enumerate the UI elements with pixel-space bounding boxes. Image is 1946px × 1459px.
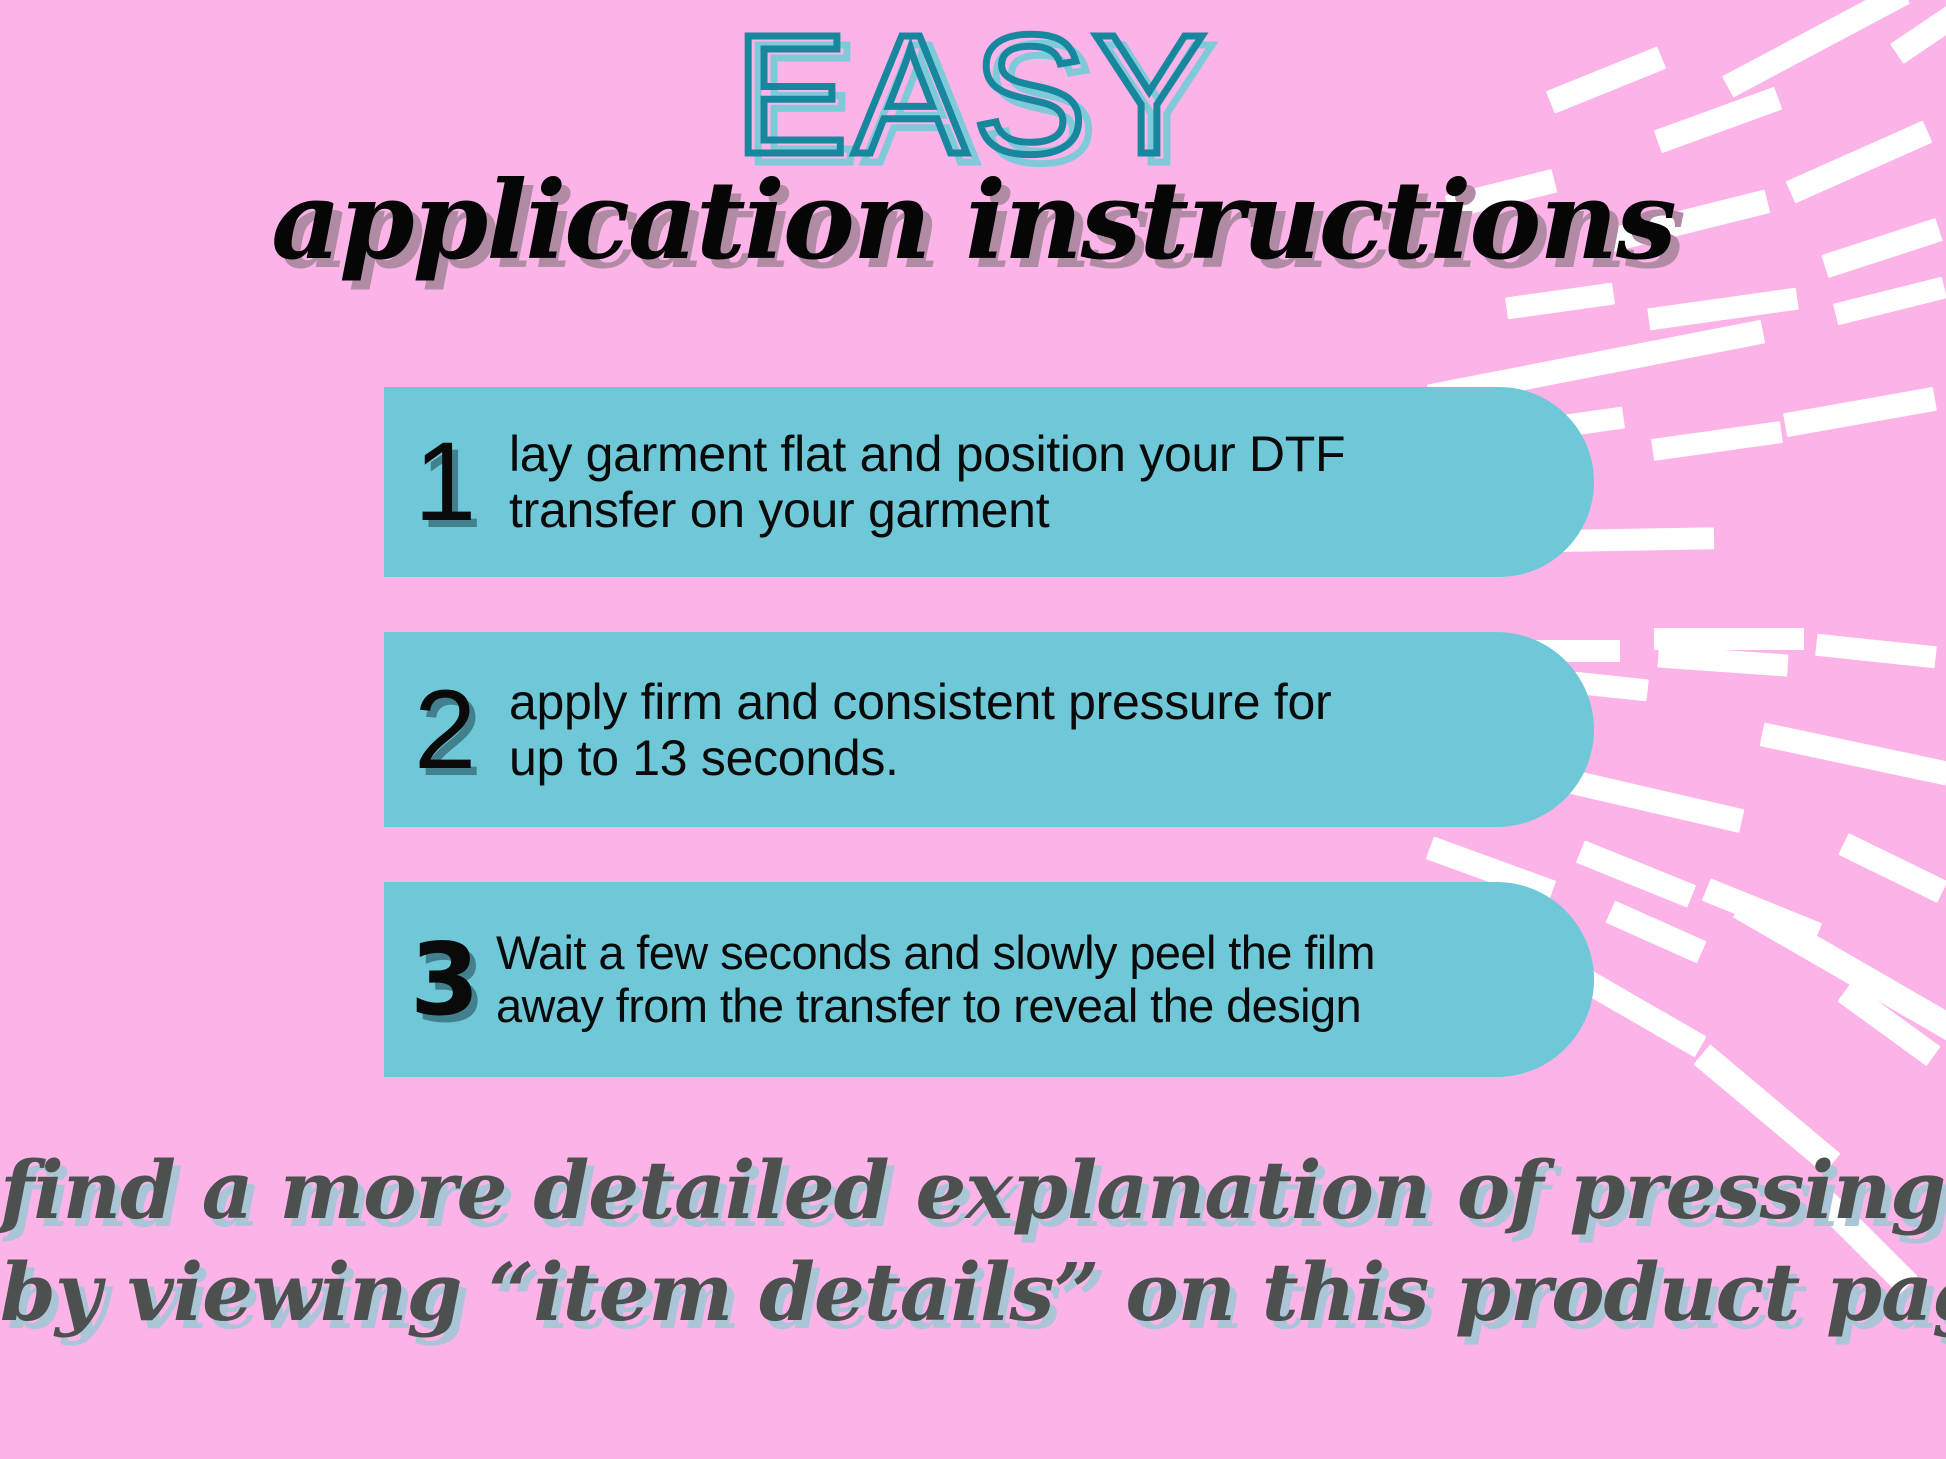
footer-note: find a more detailed explanation of pres…: [0, 1150, 1946, 1332]
decorative-dash: [1651, 421, 1783, 461]
step-text-2: apply firm and consistent pressure for u…: [509, 674, 1331, 786]
decorative-dash: [1838, 833, 1946, 903]
decorative-dash: [1833, 277, 1946, 325]
decorative-dash: [1647, 288, 1799, 331]
decorative-dash: [1760, 723, 1946, 786]
decorative-dash: [1654, 628, 1804, 650]
title-script-front: application instructions: [271, 158, 1675, 284]
decorative-dash: [1605, 901, 1706, 964]
decorative-dash: [1702, 878, 1822, 945]
decorative-dash: [1783, 387, 1937, 437]
instruction-step-3: 3 Wait a few seconds and slowly peel the…: [384, 882, 1594, 1077]
decorative-dash: [1733, 895, 1946, 1048]
instruction-step-2: 2 apply firm and consistent pressure for…: [384, 632, 1594, 827]
poster-canvas: EASY EASY application instructions appli…: [0, 0, 1946, 1459]
footer-line-2-front: by viewing “item details” on this produc…: [0, 1245, 1946, 1339]
decorative-dash: [1837, 982, 1940, 1066]
step-number-1: 1: [414, 426, 509, 538]
step-text-1: lay garment flat and position your DTF t…: [509, 426, 1345, 538]
step-number-2: 2: [414, 674, 509, 786]
title-script-container: application instructions application ins…: [0, 165, 1946, 278]
title-easy: EASY EASY: [734, 10, 1212, 180]
decorative-dash: [1657, 645, 1788, 676]
footer-line-1: find a more detailed explanation of pres…: [0, 1150, 1946, 1230]
footer-line-2: by viewing “item details” on this produc…: [0, 1252, 1946, 1332]
title-application-instructions: application instructions application ins…: [271, 165, 1675, 278]
instruction-step-1: 1 lay garment flat and position your DTF…: [384, 387, 1594, 577]
title-easy-container: EASY EASY: [0, 10, 1946, 180]
instruction-steps-list: 1 lay garment flat and position your DTF…: [384, 387, 1594, 1132]
decorative-dash: [1815, 634, 1937, 668]
step-number-3: 3: [410, 930, 496, 1030]
footer-line-1-front: find a more detailed explanation of pres…: [0, 1143, 1946, 1237]
step-text-3: Wait a few seconds and slowly peel the f…: [496, 927, 1375, 1032]
